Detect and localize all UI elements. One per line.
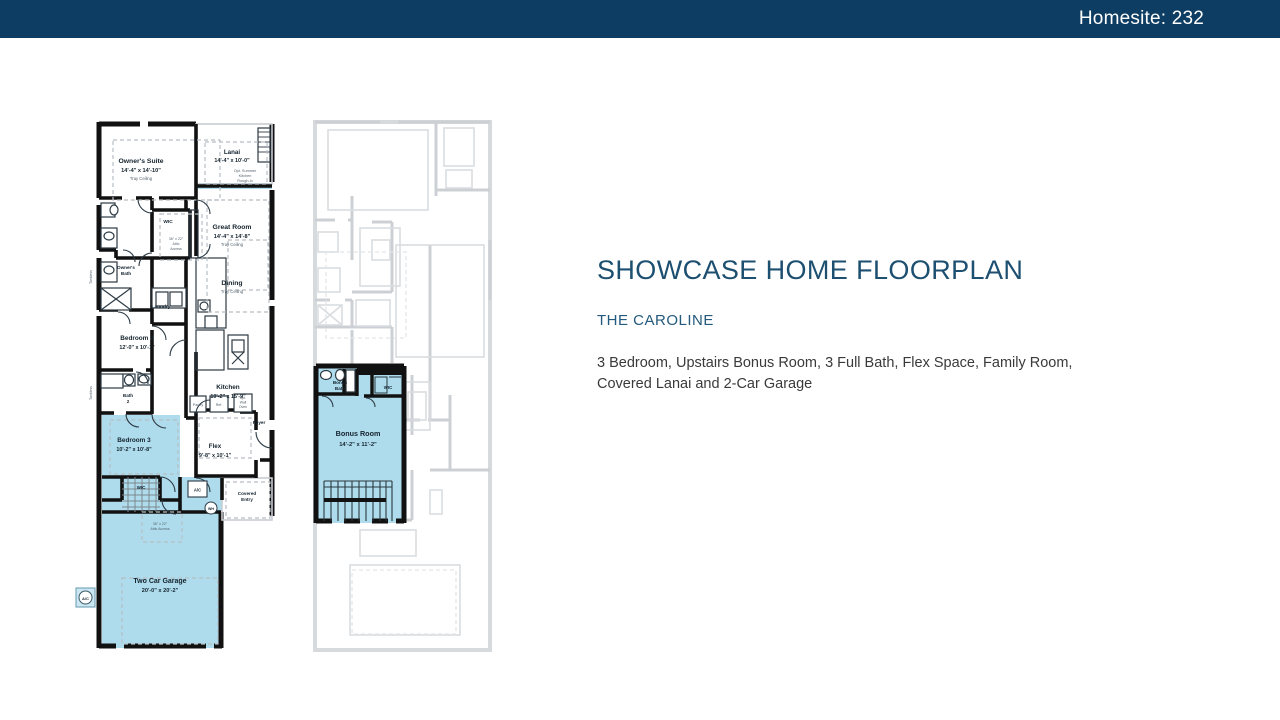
label-two-car-garage: Two Car Garage [133,578,186,585]
label-bonus-bath-line2: Bath [335,386,345,391]
first-floor-room-labels: Owner's Suite 14'-4" x 14'-10" Tray Ceil… [116,149,265,594]
label-foyer: Foyer [253,420,266,425]
label-wall-oven-3: Oven [239,405,247,409]
lanai-outline [196,124,272,520]
label-bonus-bath: Bonus [333,380,348,385]
label-laundry: Laundry [152,304,171,310]
first-floor-fixtures [101,128,270,412]
label-tankless-1: Tankless [89,270,93,284]
label-lanai: Lanai [224,149,240,156]
note-lanai-line1: Opt. Summer [234,169,257,173]
first-floor-stairs [122,477,160,512]
label-wall-oven-1: Opt. [240,396,246,400]
label-great-room: Great Room [213,224,252,231]
dim-great-room: 14'-4" x 14'-8" [214,234,251,240]
label-wall-oven-2: Wall [240,401,247,405]
label-bedroom-2: Bedroom 2 [120,335,154,342]
first-floor-door-swings [118,199,272,514]
dim-two-car-garage: 20'-0" x 20'-2" [142,588,179,594]
dim-lanai: 14'-4" x 10'-0" [214,158,250,164]
label-attic-access-size: 36" x 22" [169,237,184,241]
note-lanai-line2: Kitchen [239,174,252,178]
label-bath-2: Bath [123,393,133,398]
first-floor-equipment: A/C A/C WH Tankless Tankless [76,270,217,607]
note-attic-access-1: Attic [173,242,180,246]
page-title: SHOWCASE HOME FLOORPLAN [597,256,1127,286]
second-floor-highlight [316,366,404,523]
label-owners-bath-2: Bath [121,271,131,276]
note-owners-suite: Tray Ceiling [130,176,153,181]
label-kitchen: Kitchen [216,384,240,391]
label-tankless-2: Tankless [89,386,93,400]
label-bedroom-3: Bedroom 3 [117,437,151,444]
label-wic-bedroom-3: WIC [137,485,146,490]
dim-kitchen: 10'-2" x 15'-9" [210,394,246,400]
dim-bedroom-2: 12'-0" x 10'-1" [119,345,155,351]
label-ac-interior: A/C [194,488,201,493]
label-pantry: Pantry [193,403,204,407]
first-floor-interior-walls [99,124,272,512]
plan-description: 3 Bedroom, Upstairs Bonus Room, 3 Full B… [597,353,1082,397]
first-floor-exterior-walls [99,122,272,648]
note-garage-attic: Attic Access [150,527,170,531]
plan-name-subtitle: THE CAROLINE [597,312,1127,329]
label-owners-suite: Owner's Suite [118,158,163,165]
note-attic-access-2: Access [170,247,182,251]
second-floor-ghost-outline [315,122,490,650]
label-dining: Dining [221,280,242,287]
label-flex: Flex [209,443,222,450]
note-great-room: Tray Ceiling [221,242,244,247]
label-water-heater: WH [208,507,214,511]
dim-flex: 9'-8" x 10'-1" [199,453,232,459]
first-floor-highlight-fills [102,183,272,648]
info-panel: SHOWCASE HOME FLOORPLAN THE CAROLINE 3 B… [597,256,1127,396]
note-dining: Tray Ceiling [221,289,244,294]
label-owners-bath: Owner's [117,265,135,270]
homesite-label: Homesite: 232 [1079,8,1280,30]
label-covered-entry-2: Entry [241,497,253,502]
first-floor-dashed-zones [110,140,270,644]
second-floor-room-labels: Bonus Room 14'-2" x 11'-2" Bonus Bath WI… [333,380,393,448]
note-lanai-line3: Rough-in [237,179,252,183]
label-ac-exterior: A/C [82,596,89,601]
dim-owners-suite: 14'-4" x 14'-10" [121,168,161,174]
dim-bonus-room: 14'-2" x 11'-2" [339,442,377,448]
label-wic-owners: WIC [163,219,173,225]
dim-bedroom-3: 10'-2" x 10'-8" [116,447,152,453]
label-garage-attic-size: 36" x 22" [153,522,168,526]
label-wic-bonus: WIC [384,385,393,390]
header-bar: Homesite: 232 [0,0,1280,38]
label-bonus-room: Bonus Room [336,429,381,438]
label-refrigerator: Ref. [216,403,223,407]
label-bath-2-num: 2 [127,399,130,404]
label-covered-entry: Covered [238,491,257,496]
